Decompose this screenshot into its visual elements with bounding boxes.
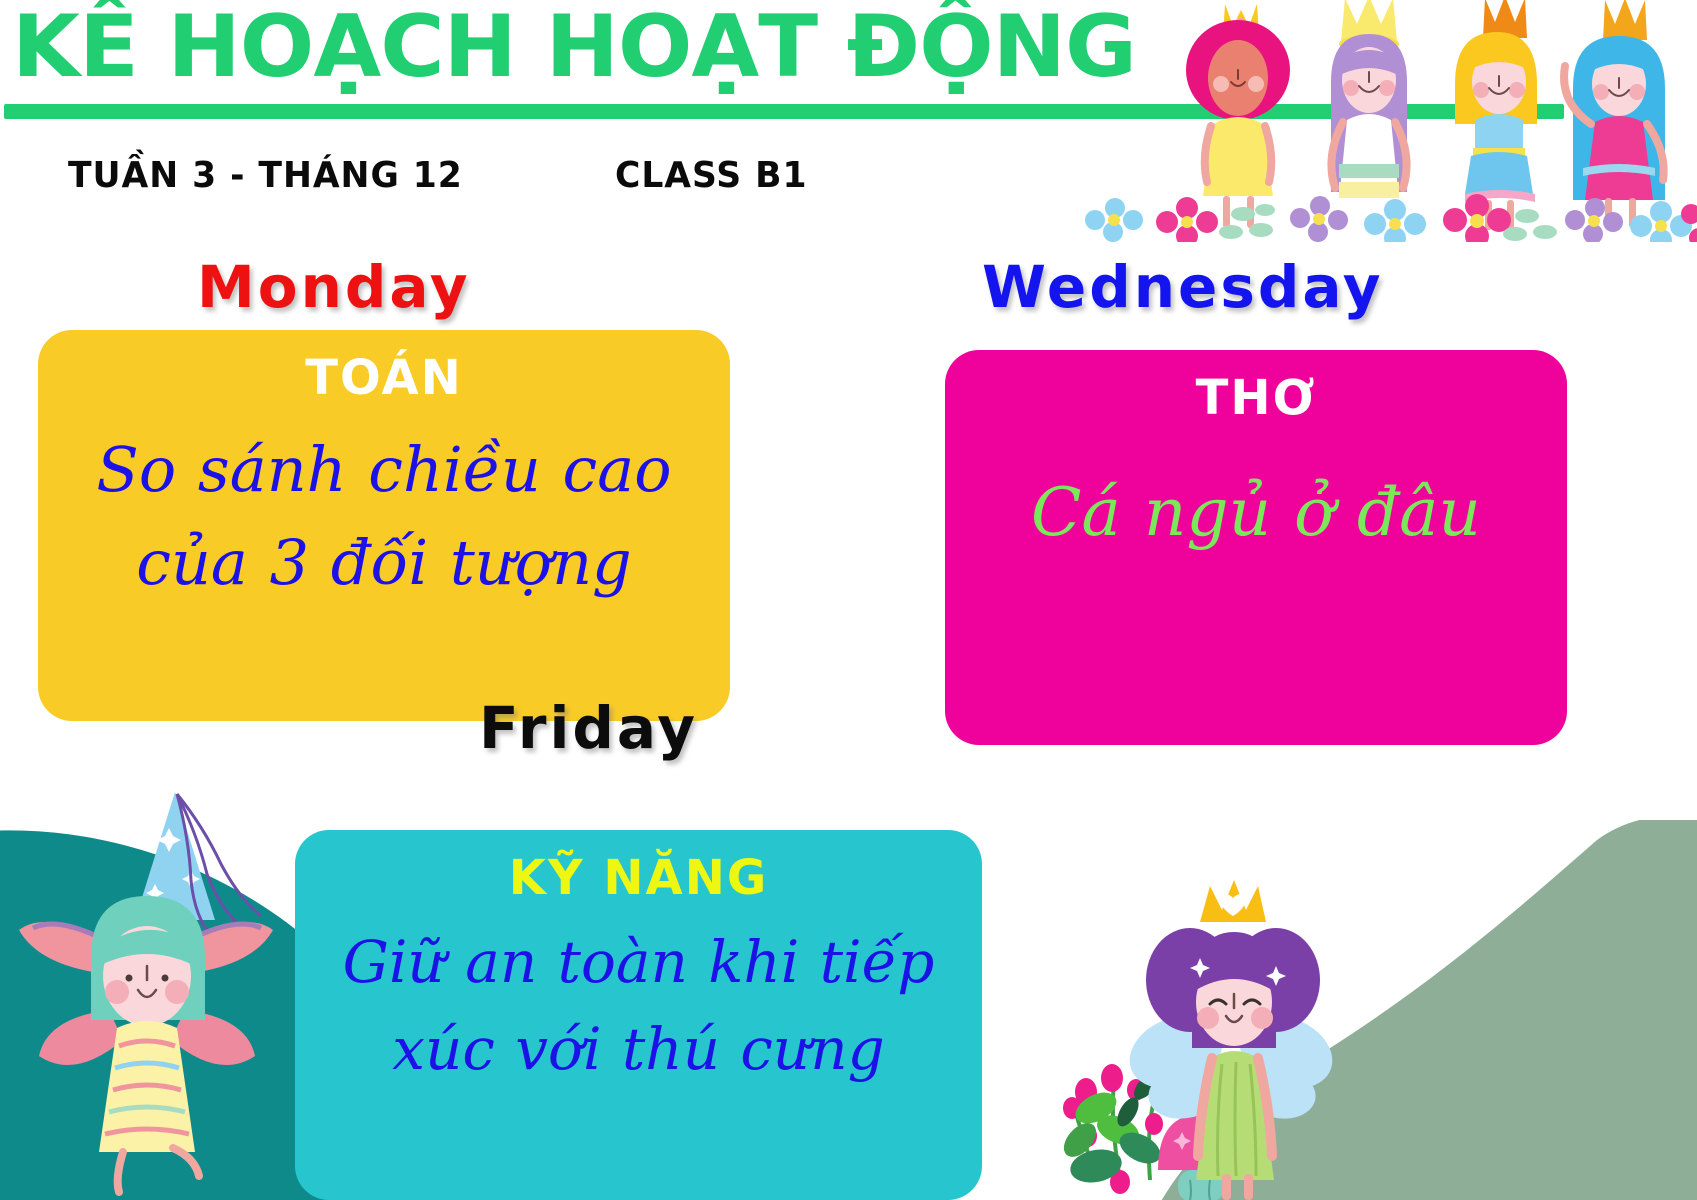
- fairy-with-party-hat-illustration: [5, 780, 295, 1200]
- princess-purple: [1331, 0, 1407, 200]
- card-friday[interactable]: KỸ NĂNG Giữ an toàn khi tiếp xúc với thú…: [295, 830, 982, 1200]
- day-label-wednesday: Wednesday: [982, 253, 1384, 321]
- header: KẾ HOẠCH HOẠT ĐỘNG: [0, 0, 1100, 90]
- page-title: KẾ HOẠCH HOẠT ĐỘNG: [12, 4, 1122, 90]
- card-friday-activity-line2: xúc với thú cưng: [317, 1006, 960, 1093]
- card-wednesday-subject: THƠ: [945, 372, 1567, 425]
- card-monday[interactable]: TOÁN So sánh chiều cao của 3 đối tượng: [38, 330, 730, 721]
- princess-blonde: [1455, 0, 1537, 230]
- card-monday-activity-line1: So sánh chiều cao: [60, 423, 708, 516]
- card-friday-activity-line1: Giữ an toàn khi tiếp: [317, 919, 960, 1006]
- card-monday-subject: TOÁN: [38, 352, 730, 405]
- card-friday-subject: KỸ NĂNG: [295, 852, 982, 905]
- card-wednesday-activity-line1: Cá ngủ ở đâu: [967, 463, 1545, 562]
- card-wednesday-activity: Cá ngủ ở đâu: [945, 459, 1567, 562]
- card-monday-activity-line2: của 3 đối tượng: [60, 516, 708, 609]
- day-label-friday: Friday: [479, 694, 698, 762]
- princess-pink: [1186, 4, 1290, 228]
- princesses-illustration: [1075, 0, 1697, 242]
- card-wednesday[interactable]: THƠ Cá ngủ ở đâu: [945, 350, 1567, 745]
- day-label-monday: Monday: [197, 253, 471, 321]
- week-label: TUẦN 3 - THÁNG 12: [68, 155, 463, 196]
- card-friday-activity: Giữ an toàn khi tiếp xúc với thú cưng: [295, 915, 982, 1093]
- subtitle-row: TUẦN 3 - THÁNG 12 CLASS B1: [68, 155, 816, 196]
- class-label: CLASS B1: [615, 155, 807, 196]
- fairy-princess-with-plants-illustration: [1000, 840, 1450, 1200]
- poster-canvas: KẾ HOẠCH HOẠT ĐỘNG TUẦN 3 - THÁNG 12 CLA…: [0, 0, 1697, 1200]
- princess-blue: [1564, 0, 1665, 228]
- card-monday-activity: So sánh chiều cao của 3 đối tượng: [38, 419, 730, 609]
